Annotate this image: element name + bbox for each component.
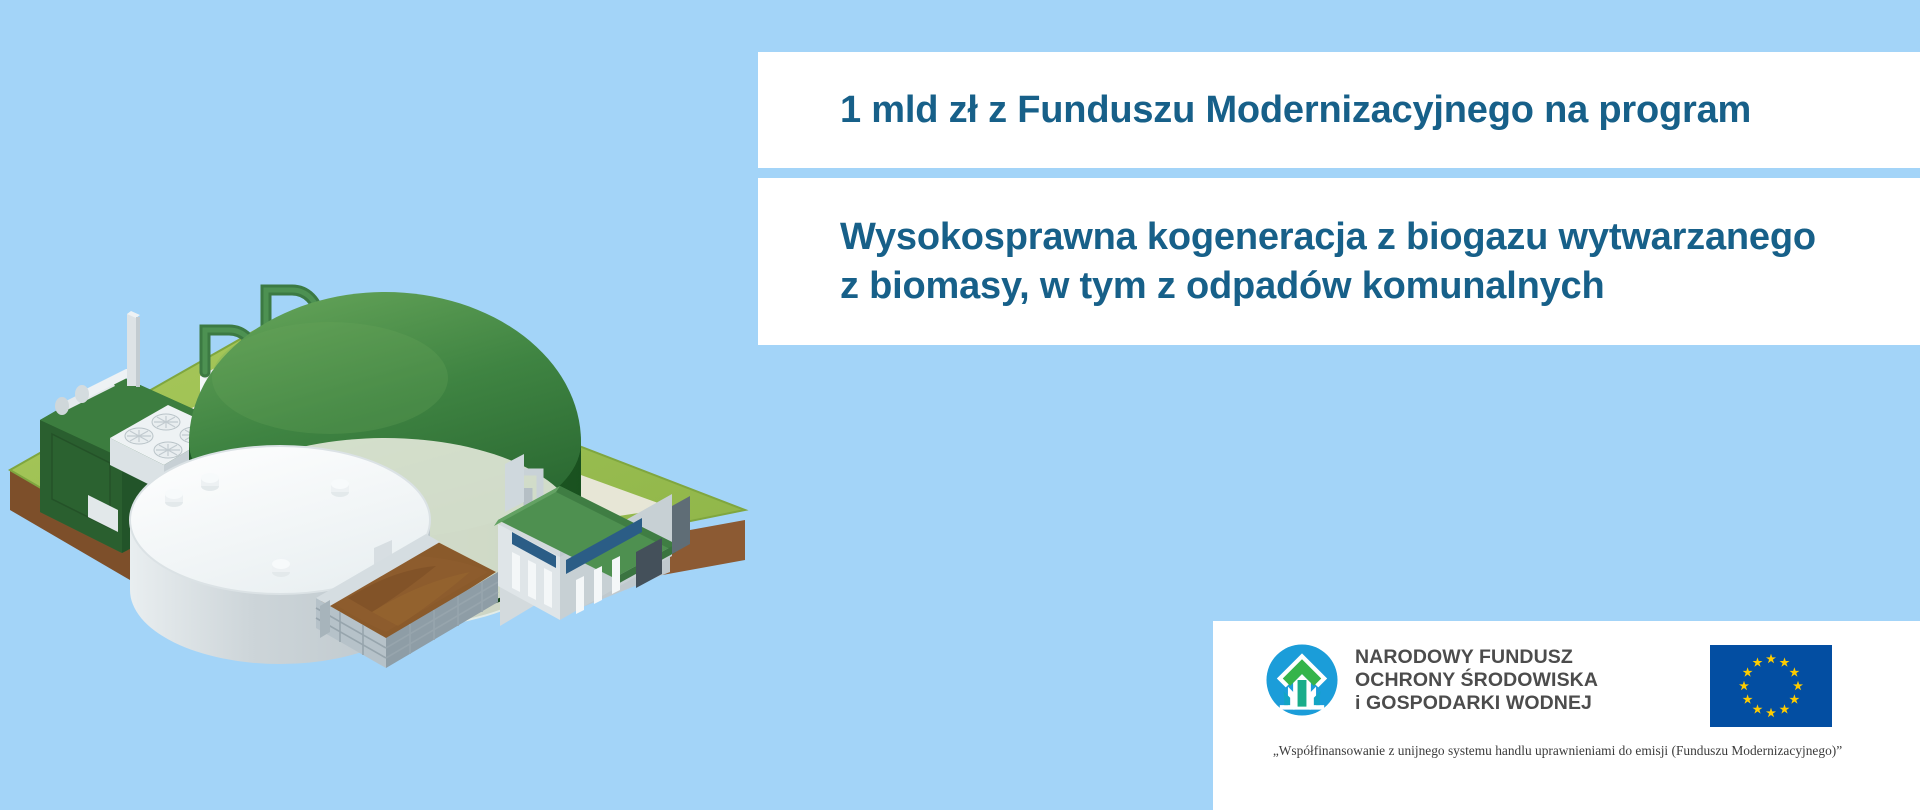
biogas-plant-illustration bbox=[0, 120, 800, 680]
page-title: 1 mld zł z Funduszu Modernizacyjnego na … bbox=[840, 86, 1751, 135]
nfosigw-line-1: NARODOWY FUNDUSZ bbox=[1355, 646, 1598, 669]
headline-amount: 1 mld zł bbox=[840, 89, 978, 131]
footer-logo-panel: NARODOWY FUNDUSZ OCHRONY ŚRODOWISKA i GO… bbox=[1213, 621, 1920, 810]
european-union-flag-icon bbox=[1710, 645, 1832, 727]
page-subtitle: Wysokosprawna kogeneracja z biogazu wytw… bbox=[840, 213, 1816, 310]
nfosigw-wordmark: NARODOWY FUNDUSZ OCHRONY ŚRODOWISKA i GO… bbox=[1355, 646, 1598, 715]
headline-rest: z Funduszu Modernizacyjnego na program bbox=[978, 89, 1751, 131]
cofinancing-note: „Współfinansowanie z unijnego systemu ha… bbox=[1213, 743, 1920, 759]
subtitle-line-2: z biomasy, w tym z odpadów komunalnych bbox=[840, 262, 1816, 311]
nfosigw-line-3: i GOSPODARKI WODNEJ bbox=[1355, 692, 1598, 715]
headline-1-wrapper: 1 mld zł z Funduszu Modernizacyjnego na … bbox=[758, 86, 1775, 135]
nfosigw-logo-icon bbox=[1265, 643, 1339, 717]
headline-banner-secondary: Wysokosprawna kogeneracja z biogazu wytw… bbox=[758, 178, 1920, 345]
headline-banner-primary: 1 mld zł z Funduszu Modernizacyjnego na … bbox=[758, 52, 1920, 168]
headline-2-wrapper: Wysokosprawna kogeneracja z biogazu wytw… bbox=[758, 213, 1840, 310]
subtitle-line-1: Wysokosprawna kogeneracja z biogazu wytw… bbox=[840, 213, 1816, 262]
poster-canvas: 1 mld zł z Funduszu Modernizacyjnego na … bbox=[0, 0, 1920, 810]
nfosigw-line-2: OCHRONY ŚRODOWISKA bbox=[1355, 669, 1598, 692]
